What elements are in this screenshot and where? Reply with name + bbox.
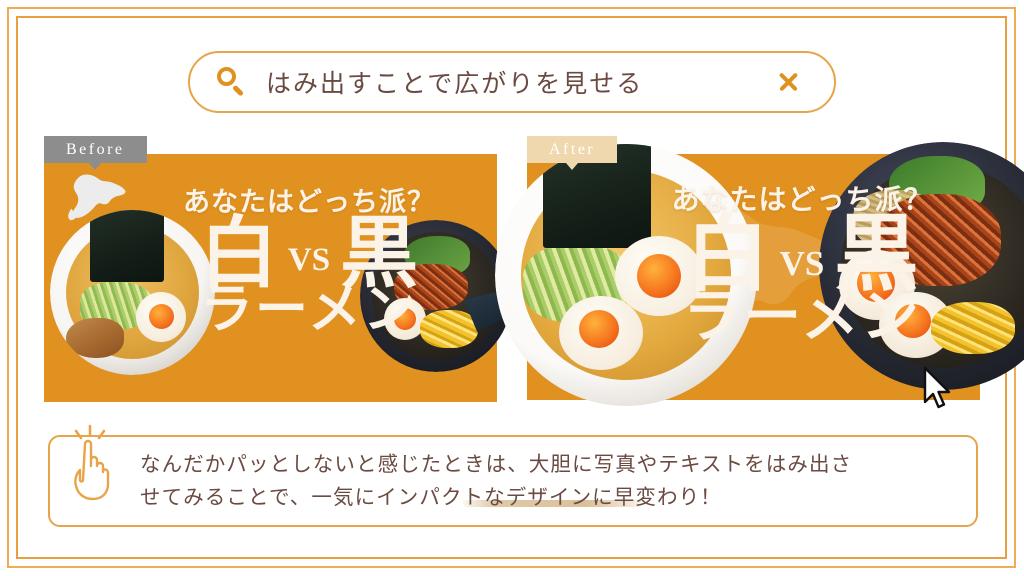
- soft-boiled-egg: [559, 296, 643, 370]
- chashu-pork: [66, 318, 124, 358]
- search-icon-ring: [217, 67, 236, 86]
- tab-notch-icon: [89, 163, 101, 170]
- before-card-body: あなたはどっち派？ 白 VS 黒 ラーメン: [44, 154, 497, 402]
- after-card-body: あなたはどっち派？ 白 VS 黒 ラーメン: [527, 154, 980, 400]
- tip-text: なんだかパッとしないと感じたときは、大胆に写真やテキストをはみ出さ せてみること…: [140, 448, 940, 514]
- headline-subtitle: ラーメン: [164, 283, 454, 336]
- mouse-pointer-icon: [922, 366, 956, 410]
- search-icon-handle: [232, 85, 244, 97]
- search-icon[interactable]: [214, 65, 248, 99]
- after-card-headline: あなたはどっち派？ 白 VS 黒 ラーメン: [642, 178, 962, 346]
- before-card-tab-label: Before: [66, 141, 125, 159]
- close-icon[interactable]: [772, 65, 806, 99]
- before-card-headline: あなたはどっち派？ 白 VS 黒 ラーメン: [164, 180, 454, 336]
- nori-seaweed: [90, 210, 164, 282]
- after-card-tab-label: After: [549, 141, 595, 159]
- before-card-tab: Before: [44, 136, 147, 163]
- tip-text-line-2: せてみることで、一気にインパクトなデザインに早変わり！: [140, 481, 940, 514]
- headline-subtitle: ラーメン: [642, 288, 962, 346]
- after-card-tab: After: [527, 136, 617, 163]
- search-bar[interactable]: はみ出すことで広がりを見せる: [188, 51, 836, 113]
- pointing-hand-icon: [60, 424, 122, 504]
- search-input[interactable]: はみ出すことで広がりを見せる: [266, 64, 772, 100]
- egg-yolk: [579, 310, 619, 348]
- tab-notch-icon: [566, 163, 578, 170]
- tip-text-line-1: なんだかパッとしないと感じたときは、大胆に写真やテキストをはみ出さ: [140, 448, 940, 481]
